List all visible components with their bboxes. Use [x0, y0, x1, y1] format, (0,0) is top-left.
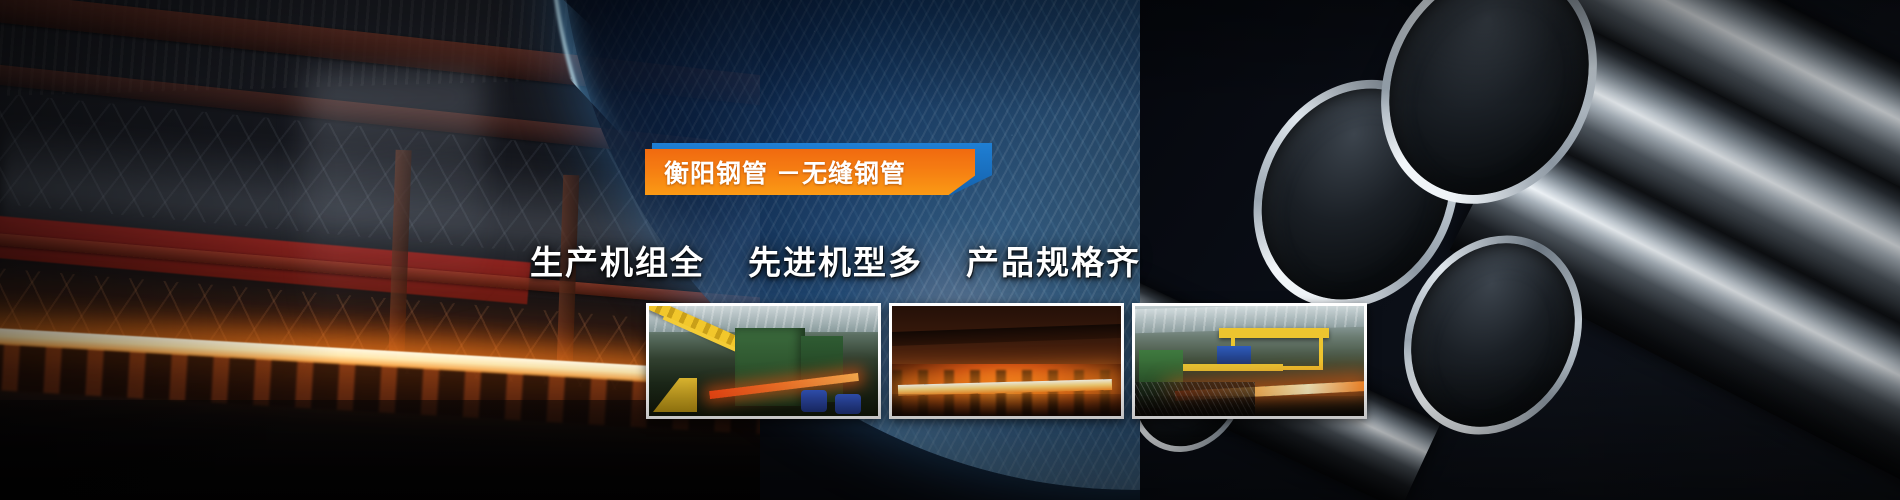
- headline: 生产机组全 先进机型多 产品规格齐: [530, 236, 1141, 284]
- foreground-shadow: [1135, 396, 1364, 416]
- yellow-guide: [653, 378, 697, 412]
- thumbnail-image: [1135, 306, 1364, 416]
- thumbnail-image: [649, 306, 878, 416]
- blue-motor: [835, 394, 861, 414]
- thumbnail-rolling-mill-line[interactable]: [646, 303, 881, 419]
- thumbnail-image: [892, 306, 1121, 416]
- blue-motor: [801, 390, 827, 412]
- blue-equipment: [1217, 346, 1251, 366]
- thumbnail-row: [646, 303, 1367, 419]
- headline-phrase-1: 生产机组全: [530, 236, 705, 284]
- headline-phrase-2: 先进机型多: [748, 236, 923, 284]
- thumbnail-steel-plant-hall[interactable]: [1132, 303, 1367, 419]
- promo-banner: 衡阳钢管 －无缝钢管 生产机组全 先进机型多 产品规格齐: [0, 0, 1900, 500]
- steam-plume: [305, 70, 485, 370]
- yellow-platform: [1183, 364, 1283, 371]
- foreground-shadow: [892, 394, 1121, 416]
- yellow-gantry: [1219, 328, 1329, 338]
- seamless-steel-pipes: [1140, 0, 1900, 500]
- brand-tag-body: 衡阳钢管 －无缝钢管: [645, 149, 975, 195]
- headline-phrase-3: 产品规格齐: [966, 236, 1141, 284]
- brand-tag-label: 衡阳钢管 －无缝钢管: [645, 154, 906, 190]
- thumbnail-hot-rolling-billet[interactable]: [889, 303, 1124, 419]
